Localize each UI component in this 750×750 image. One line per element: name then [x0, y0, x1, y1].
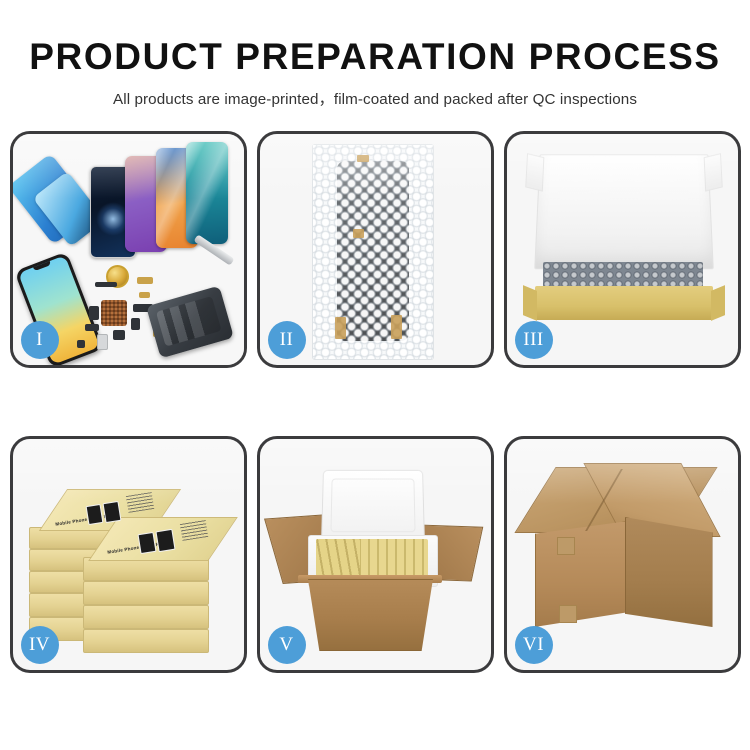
tape-mark-top-icon: [357, 155, 369, 162]
process-step-panel-1[interactable]: I: [10, 131, 247, 368]
phone-screen-teal-icon: [186, 142, 228, 244]
page-subtitle: All products are image-printed，film-coat…: [0, 87, 750, 109]
part-sim-tray-icon: [97, 334, 108, 350]
process-step-grid: I II III: [7, 131, 743, 673]
process-step-panel-6[interactable]: VI: [504, 436, 741, 673]
page-title: PRODUCT PREPARATION PROCESS: [0, 38, 750, 75]
kraft-boxes-inside-left-icon: [316, 539, 360, 579]
tape-mark-mid-icon: [353, 229, 364, 238]
page-header: PRODUCT PREPARATION PROCESS All products…: [0, 0, 750, 109]
box-printed-phone-2a-icon: [137, 532, 156, 554]
bubble-wrap-bag-icon: [312, 144, 434, 360]
carton-tape-lower-icon: [559, 605, 577, 623]
process-step-panel-3[interactable]: III: [504, 131, 741, 368]
foam-lid-icon: [320, 470, 424, 544]
part-flex-b-icon: [85, 324, 99, 331]
box-lid-icon: [534, 154, 714, 269]
process-step-panel-4[interactable]: Mobile Phone Spare Parts Mobile Phone Sp…: [10, 436, 247, 673]
step-badge-6: VI: [515, 626, 553, 664]
box-printed-phone-1a-icon: [85, 504, 103, 525]
carton-tape-upper-icon: [557, 537, 575, 555]
step-badge-2: II: [268, 321, 306, 359]
kraft-box-front-icon: [535, 286, 713, 320]
step-badge-5: V: [268, 626, 306, 664]
part-flex-a-icon: [89, 306, 99, 320]
copper-shield-part-icon: [101, 300, 127, 326]
box-printed-phone-1b-icon: [102, 501, 121, 523]
carton-front-icon: [300, 579, 442, 651]
step-badge-1: I: [21, 321, 59, 359]
part-connector-icon: [137, 277, 153, 284]
part-chip-icon: [95, 282, 117, 287]
tape-mark-left-icon: [335, 317, 346, 339]
step-badge-4: IV: [21, 626, 59, 664]
part-camera-icon: [113, 330, 125, 340]
part-connector-small-icon: [139, 292, 150, 298]
part-screw-icon: [77, 340, 85, 348]
process-step-panel-2[interactable]: II: [257, 131, 494, 368]
part-flex-d-icon: [131, 318, 140, 330]
carton-side-face-icon: [625, 517, 713, 627]
box-printed-phone-2b-icon: [155, 529, 175, 552]
carton-front-face-icon: [535, 521, 629, 627]
process-step-panel-5[interactable]: V: [257, 436, 494, 673]
tape-mark-right-icon: [391, 315, 402, 339]
step-badge-3: III: [515, 321, 553, 359]
